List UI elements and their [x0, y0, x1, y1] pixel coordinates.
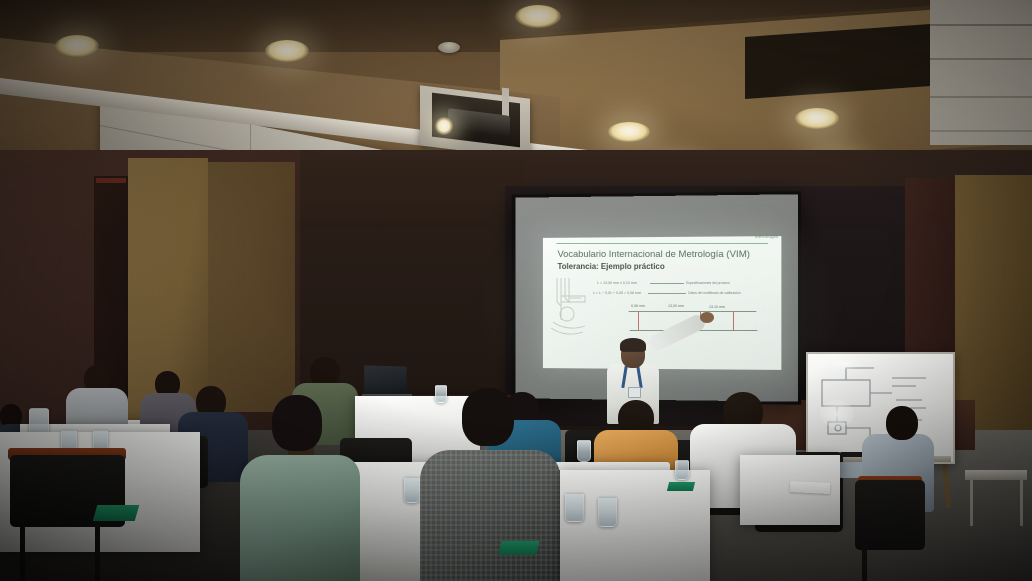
water-glass-6 — [598, 497, 617, 527]
slide-equation-2-leader — [648, 293, 686, 294]
projector-lens-icon — [434, 117, 454, 135]
green-folder-2 — [498, 541, 539, 555]
attendee-6-shirt-pattern — [420, 450, 560, 581]
slide-logo: metrología — [700, 234, 778, 243]
water-glass-8 — [435, 385, 447, 403]
side-table-top — [965, 470, 1027, 480]
attendee-4-head — [272, 395, 322, 451]
caliper-illustration-icon — [551, 276, 591, 336]
downlight-2-icon — [265, 40, 309, 62]
downlight-3-icon — [515, 5, 561, 28]
slide-diagram-top-line — [629, 311, 757, 312]
whiteboard-glare-top — [830, 358, 860, 370]
handout-3 — [790, 481, 831, 494]
whiteboard-glare — [820, 400, 854, 428]
slide-equation-1-note: Especificaciones del proceso — [686, 281, 730, 285]
green-folder-1 — [93, 505, 140, 521]
water-glass-7 — [577, 440, 591, 462]
slide-equation-1: L = 13,00 mm ± 0,10 mm — [597, 281, 637, 285]
downlight-4-icon — [608, 122, 650, 142]
slide-title: Vocabulario Internacional de Metrología … — [558, 249, 773, 260]
slide-equation-2: L = L − 0,01 + 0,05 = 0,06 mm — [593, 291, 641, 295]
slide-diagram-marker-1 — [638, 311, 639, 331]
chair-1-leg-right — [95, 520, 100, 581]
laptop-screen — [364, 366, 406, 397]
presenter-hair — [620, 338, 646, 352]
smoke-detector-icon — [438, 42, 460, 53]
water-glass-4 — [404, 477, 420, 503]
downlight-1-icon — [55, 35, 99, 57]
presenter-glasses-icon — [624, 351, 643, 356]
chair-8-leg — [862, 545, 867, 581]
slide-subtitle: Tolerancia: Ejemplo práctico — [558, 262, 773, 271]
presenter-id-badge — [628, 387, 641, 398]
water-glass-9 — [675, 460, 689, 480]
slide-measure-label-2: 13,00 mm — [668, 304, 684, 308]
whiteboard-marker — [840, 452, 864, 457]
presenter-hand — [700, 312, 714, 323]
attendee-6-head — [462, 388, 514, 446]
green-folder-4 — [667, 482, 695, 491]
slide-measure-label-1: 0,06 mm — [631, 304, 645, 308]
wall-pillar-2 — [205, 162, 295, 412]
ceiling-tile-grid — [930, 0, 1032, 145]
chair-8 — [855, 480, 925, 550]
side-table-leg-left — [970, 478, 973, 526]
water-glass-5 — [565, 493, 584, 522]
attendee-4-body — [240, 455, 360, 581]
attendee-10-head — [886, 406, 918, 440]
slide-top-rule — [557, 243, 769, 244]
slide-measure-label-3: 13,10 mm — [709, 305, 725, 309]
slide-equation-1-leader — [650, 283, 684, 284]
slide-diagram-marker-3 — [733, 311, 734, 331]
exit-sign-strip — [96, 178, 126, 183]
conference-room-photo: metrología Vocabulario Internacional de … — [0, 0, 1032, 581]
side-table-leg-right — [1020, 478, 1023, 526]
downlight-5-icon — [795, 108, 839, 129]
slide-equation-2-note: Datos del certificado de calibración — [688, 291, 740, 295]
chair-1-leg-left — [20, 520, 25, 581]
